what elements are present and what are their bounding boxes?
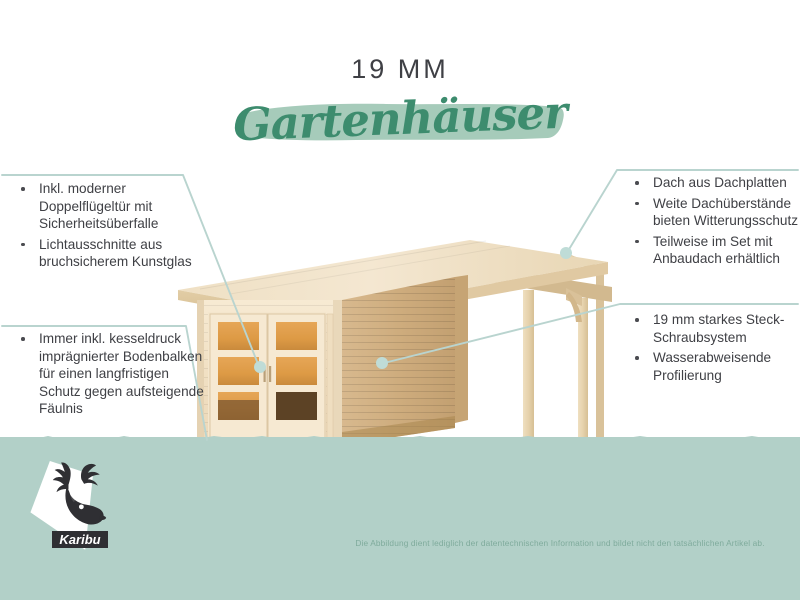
list-item: Immer inkl. kesseldruck imprägnierter Bo…	[16, 330, 206, 418]
list-item: 19 mm starkes Steck-Schraubsystem	[630, 311, 800, 346]
list-item: Dach aus Dachplatten	[630, 174, 800, 192]
feature-list-top-right: Dach aus Dachplatten Weite Dachüberständ…	[630, 174, 800, 271]
infographic-canvas: 19 MM Gartenhäuser Inkl. moderner Doppel…	[0, 0, 800, 600]
list-item: Lichtausschnitte aus bruchsicherem Kunst…	[16, 236, 196, 271]
list-item: Teilweise im Set mit Anbaudach erhältlic…	[630, 233, 800, 268]
feature-list-bottom-right: 19 mm starkes Steck-Schraubsystem Wasser…	[630, 311, 800, 387]
feature-list-top-left: Inkl. moderner Doppelflügeltür mit Siche…	[16, 180, 196, 274]
callout-dot-door	[254, 361, 266, 373]
callout-dot-roof	[560, 247, 572, 259]
disclaimer-text: Die Abbildung dient lediglich der datent…	[330, 538, 790, 548]
karibu-logo: Karibu	[20, 455, 120, 560]
feature-list-bottom-left: Immer inkl. kesseldruck imprägnierter Bo…	[16, 330, 206, 421]
list-item: Weite Dachüberstände bieten Witterungssc…	[630, 195, 800, 230]
callout-dot-wall	[376, 357, 388, 369]
list-item: Wasserabweisende Profilierung	[630, 349, 800, 384]
logo-wordmark: Karibu	[59, 532, 100, 547]
list-item: Inkl. moderner Doppelflügeltür mit Siche…	[16, 180, 196, 233]
